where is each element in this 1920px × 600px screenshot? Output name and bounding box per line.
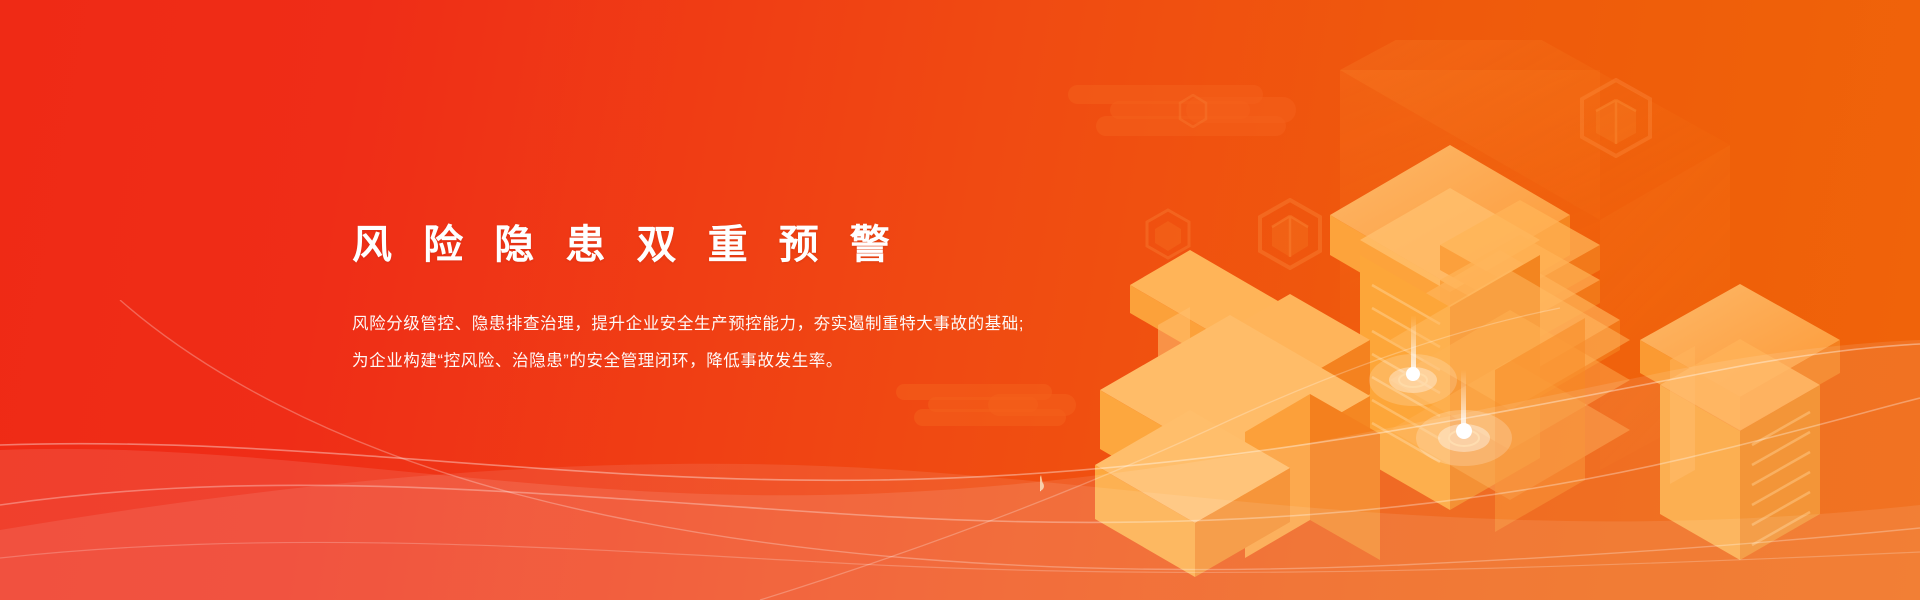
promo-banner: 风 险 隐 患 双 重 预 警 风险分级管控、隐患排查治理，提升企业安全生产预控… bbox=[0, 0, 1920, 600]
text-content-block: 风 险 隐 患 双 重 预 警 风险分级管控、隐患排查治理，提升企业安全生产预控… bbox=[352, 218, 1172, 380]
banner-title: 风 险 隐 患 双 重 预 警 bbox=[352, 218, 1172, 272]
banner-subtitle-line-2: 为企业构建“控风险、治隐患”的安全管理闭环，降低事故发生率。 bbox=[352, 343, 1172, 380]
banner-subtitle-line-1: 风险分级管控、隐患排查治理，提升企业安全生产预控能力，夯实遏制重特大事故的基础; bbox=[352, 306, 1172, 343]
